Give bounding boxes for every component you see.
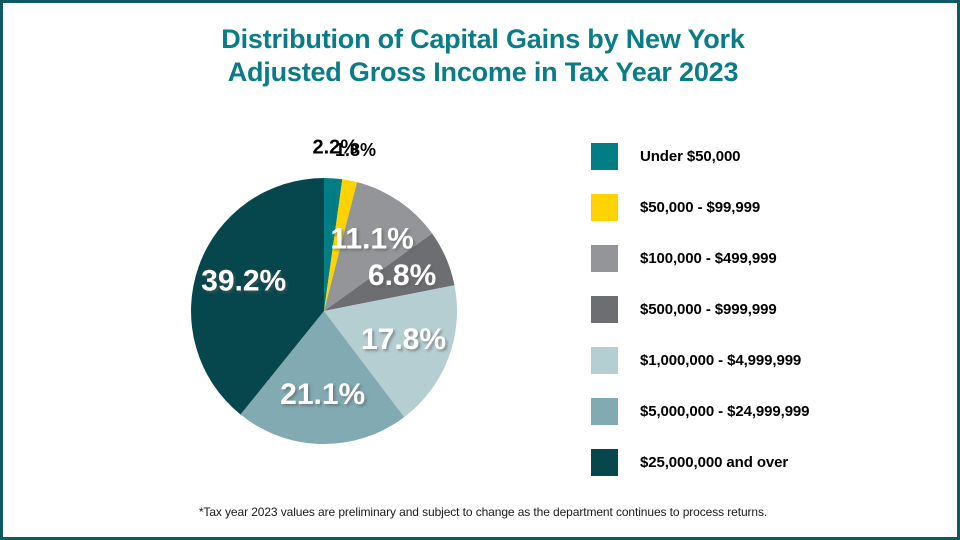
legend-swatch (591, 296, 618, 323)
legend-item[interactable]: $100,000 - $499,999 (591, 245, 931, 272)
pie-chart-svg: 2.2%1.8%11.1%6.8%17.8%21.1%39.2% (158, 133, 494, 489)
legend-item[interactable]: $5,000,000 - $24,999,999 (591, 398, 931, 425)
pie-slice-label: 6.8% (368, 259, 436, 292)
legend-item[interactable]: $1,000,000 - $4,999,999 (591, 347, 931, 374)
page-title-line-1: Distribution of Capital Gains by New Yor… (3, 23, 960, 56)
legend-item-label: Under $50,000 (640, 148, 740, 165)
footnote: *Tax year 2023 values are preliminary an… (3, 505, 960, 519)
legend-swatch (591, 194, 618, 221)
legend-item-label: $100,000 - $499,999 (640, 250, 777, 267)
legend-item[interactable]: Under $50,000 (591, 143, 931, 170)
legend-swatch (591, 398, 618, 425)
pie-chart: 2.2%1.8%11.1%6.8%17.8%21.1%39.2% (158, 133, 494, 489)
legend-swatch (591, 347, 618, 374)
legend-item-label: $1,000,000 - $4,999,999 (640, 352, 801, 369)
page-title: Distribution of Capital Gains by New Yor… (3, 23, 960, 89)
pie-slice-label: 21.1% (280, 378, 365, 411)
pie-slice-label: 11.1% (330, 223, 413, 256)
legend-item-label: $500,000 - $999,999 (640, 301, 777, 318)
pie-slice-label: 1.8% (335, 140, 376, 160)
legend-swatch (591, 143, 618, 170)
legend-item[interactable]: $25,000,000 and over (591, 449, 931, 476)
pie-slice-label: 39.2% (201, 265, 286, 298)
legend-item[interactable]: $500,000 - $999,999 (591, 296, 931, 323)
page-title-line-2: Adjusted Gross Income in Tax Year 2023 (3, 56, 960, 89)
legend-swatch (591, 449, 618, 476)
legend-item-label: $50,000 - $99,999 (640, 199, 760, 216)
chart-page: Distribution of Capital Gains by New Yor… (0, 0, 960, 540)
legend-item[interactable]: $50,000 - $99,999 (591, 194, 931, 221)
legend: Under $50,000$50,000 - $99,999$100,000 -… (591, 143, 931, 500)
legend-item-label: $5,000,000 - $24,999,999 (640, 403, 809, 420)
pie-slice-label: 17.8% (361, 323, 446, 356)
legend-swatch (591, 245, 618, 272)
legend-item-label: $25,000,000 and over (640, 454, 788, 471)
